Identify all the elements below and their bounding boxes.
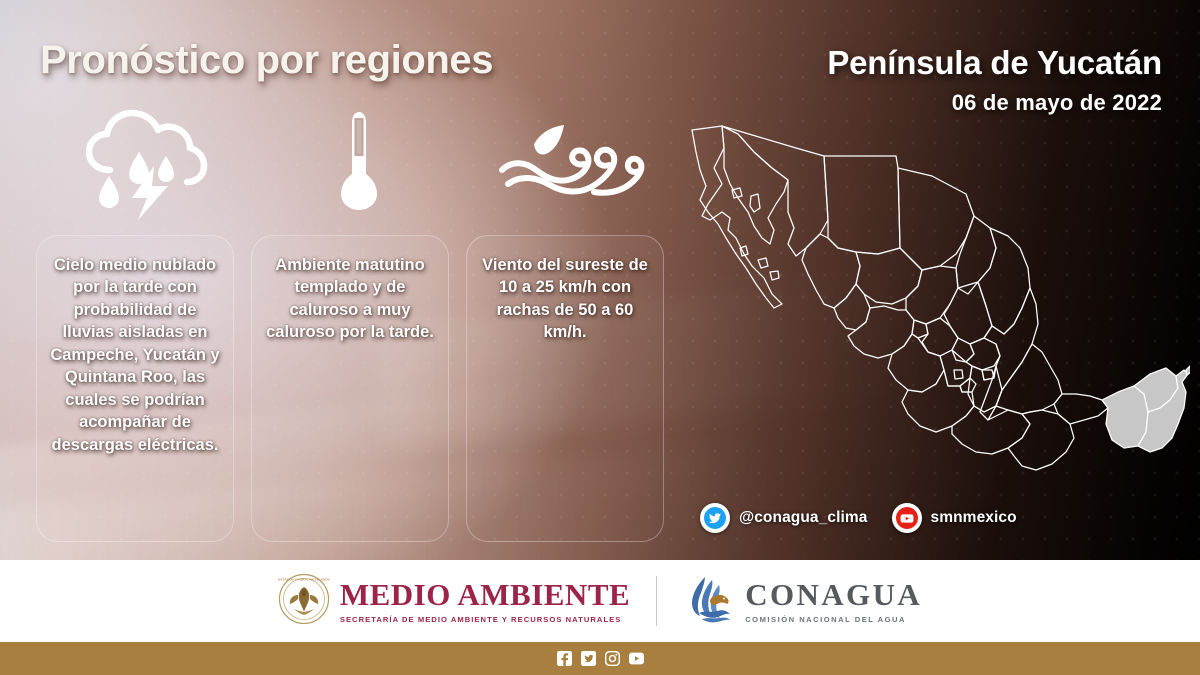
forecast-card-sky: Cielo medio nublado por la tarde con pro… xyxy=(36,235,234,542)
youtube-icon[interactable] xyxy=(629,651,644,666)
social-handles: @conagua_clima smnmexico xyxy=(700,503,1017,533)
forecast-card-text: Viento del sureste de 10 a 25 km/h con r… xyxy=(479,254,651,344)
semarnat-subtitle: SECRETARÍA DE MEDIO AMBIENTE Y RECURSOS … xyxy=(340,615,630,624)
forecast-card-text: Ambiente matutino templado y de caluroso… xyxy=(264,254,436,344)
cloud-rain-lightning-icon xyxy=(82,108,208,225)
footer-logos: ESTADOS UNIDOS MEXICANOS MEDIO AMBIENTE … xyxy=(0,560,1200,642)
twitter-icon[interactable] xyxy=(581,651,596,666)
forecast-cards: Cielo medio nublado por la tarde con pro… xyxy=(36,235,664,542)
conagua-emblem-icon xyxy=(683,573,735,630)
mexico-map xyxy=(678,108,1190,508)
conagua-subtitle: COMISIÓN NACIONAL DEL AGUA xyxy=(745,615,922,624)
svg-text:ESTADOS UNIDOS MEXICANOS: ESTADOS UNIDOS MEXICANOS xyxy=(278,577,330,581)
logo-divider xyxy=(656,576,657,626)
forecast-card-wind: Viento del sureste de 10 a 25 km/h con r… xyxy=(466,235,664,542)
infographic-canvas: Pronóstico por regiones Península de Yuc… xyxy=(0,0,1200,675)
semarnat-title: MEDIO AMBIENTE xyxy=(340,579,630,610)
logo-conagua: CONAGUA COMISIÓN NACIONAL DEL AGUA xyxy=(683,573,922,630)
forecast-card-text: Cielo medio nublado por la tarde con pro… xyxy=(49,254,221,456)
wind-leaf-icon xyxy=(498,122,663,207)
social-twitter[interactable]: @conagua_clima xyxy=(700,503,868,533)
mexican-seal-icon: ESTADOS UNIDOS MEXICANOS xyxy=(278,573,330,630)
twitter-icon[interactable] xyxy=(700,503,730,533)
conagua-title: CONAGUA xyxy=(745,579,922,610)
youtube-handle: smnmexico xyxy=(931,509,1017,527)
facebook-icon[interactable] xyxy=(557,651,572,666)
youtube-icon[interactable] xyxy=(892,503,922,533)
logo-semarnat: ESTADOS UNIDOS MEXICANOS MEDIO AMBIENTE … xyxy=(278,573,630,630)
thermometer-icon xyxy=(330,110,388,217)
footer-social-bar xyxy=(0,642,1200,675)
social-youtube[interactable]: smnmexico xyxy=(892,503,1017,533)
forecast-card-temperature: Ambiente matutino templado y de caluroso… xyxy=(251,235,449,542)
region-title: Península de Yucatán xyxy=(827,44,1162,82)
instagram-icon[interactable] xyxy=(605,651,620,666)
twitter-handle: @conagua_clima xyxy=(739,509,868,527)
page-title: Pronóstico por regiones xyxy=(40,38,493,83)
